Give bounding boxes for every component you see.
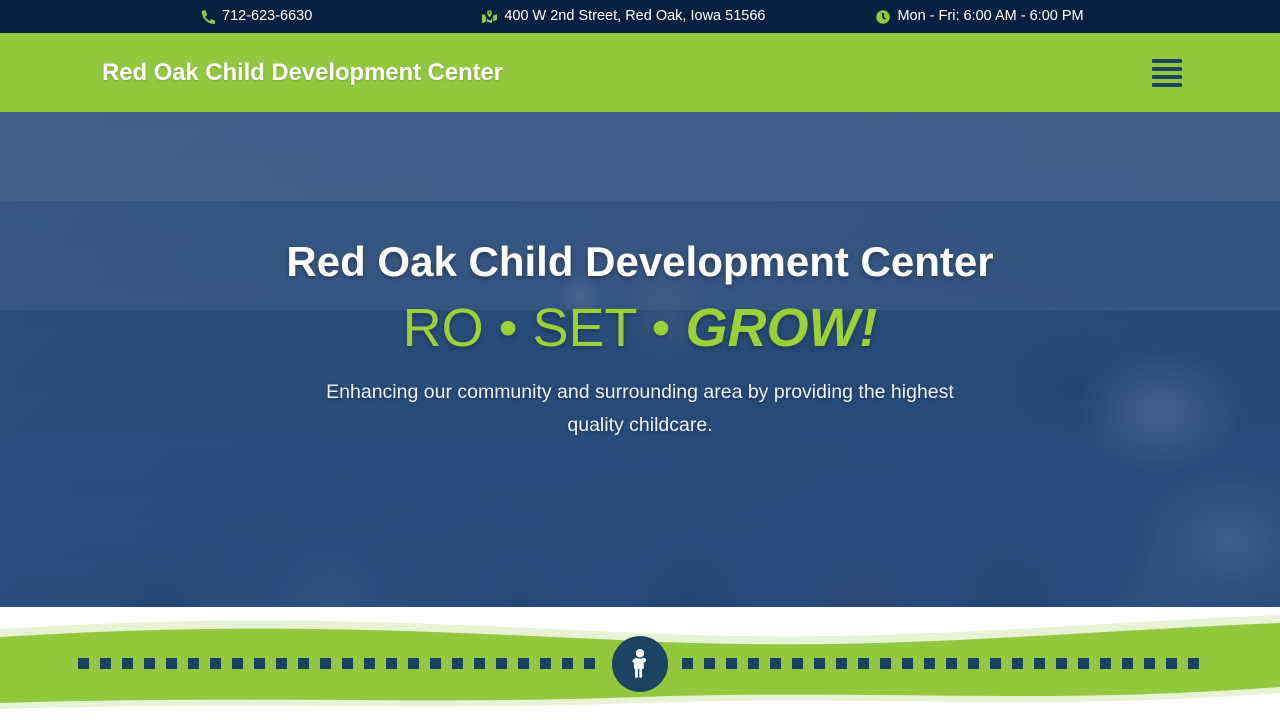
child-badge[interactable] — [612, 636, 668, 692]
dashed-line-left — [78, 658, 598, 669]
hero-content: Red Oak Child Development Center RO • SE… — [0, 112, 1280, 441]
band-content — [0, 607, 1280, 720]
dashed-divider-row — [78, 636, 1202, 692]
hamburger-bar — [1152, 67, 1182, 71]
green-divider-band — [0, 607, 1280, 720]
hero-section: Red Oak Child Development Center RO • SE… — [0, 112, 1280, 607]
top-contact-bar-inner: 712-623-6630 400 W 2nd Street, Red Oak, … — [40, 9, 1240, 24]
hero-tagline: RO • SET • GROW! — [0, 299, 1280, 358]
hamburger-bar — [1152, 59, 1182, 63]
hamburger-menu-icon[interactable] — [1152, 58, 1182, 88]
contact-address[interactable]: 400 W 2nd Street, Red Oak, Iowa 51566 — [482, 9, 765, 24]
hero-subtitle: Enhancing our community and surrounding … — [310, 376, 970, 442]
hero-tagline-plain: RO • SET • — [403, 298, 686, 358]
dashed-line-right — [682, 658, 1202, 669]
clock-icon — [875, 9, 890, 24]
phone-icon — [200, 9, 215, 24]
site-header: Red Oak Child Development Center — [0, 33, 1280, 112]
hero-tagline-italic: GROW! — [685, 298, 877, 358]
contact-phone[interactable]: 712-623-6630 — [200, 9, 312, 24]
site-brand-title[interactable]: Red Oak Child Development Center — [102, 59, 503, 87]
contact-hours: Mon - Fri: 6:00 AM - 6:00 PM — [875, 9, 1083, 24]
hero-title: Red Oak Child Development Center — [0, 237, 1280, 287]
contact-hours-text: Mon - Fri: 6:00 AM - 6:00 PM — [897, 9, 1083, 24]
contact-phone-text: 712-623-6630 — [222, 9, 312, 24]
map-marked-icon — [482, 9, 497, 24]
hamburger-bar — [1152, 83, 1182, 87]
contact-address-text: 400 W 2nd Street, Red Oak, Iowa 51566 — [504, 9, 765, 24]
hamburger-bar — [1152, 75, 1182, 79]
top-contact-bar: 712-623-6630 400 W 2nd Street, Red Oak, … — [0, 0, 1280, 33]
child-icon — [627, 649, 653, 679]
